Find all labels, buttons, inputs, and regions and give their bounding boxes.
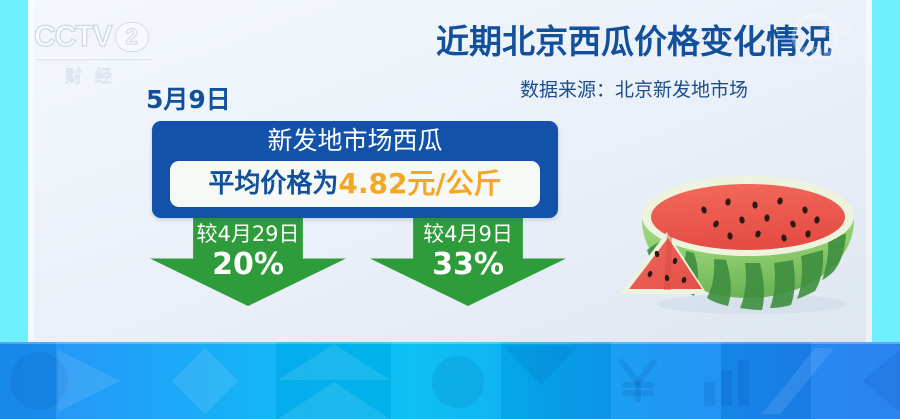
band-bar-chart-icon (700, 358, 756, 406)
comparison-1-percent-value: 20% (150, 248, 346, 282)
watermelon-illustration (612, 158, 874, 318)
infographic-canvas: CCTV 2 财经 近期北京西瓜价格变化情况 数据来源：北京新发地市场 央视网 … (0, 0, 900, 419)
channel-number-badge: 2 (115, 22, 149, 52)
data-source-label: 数据来源：北京新发地市场 (388, 78, 880, 102)
price-panel: 新发地市场西瓜 平均价格为 4.82元/公斤 (152, 121, 558, 218)
comparison-2-percent-value: 33% (370, 248, 566, 282)
as-of-date-label: 5月9日 (146, 85, 231, 115)
average-price-box: 平均价格为 4.82元/公斤 (170, 161, 540, 207)
average-price-value: 4.82元/公斤 (338, 169, 501, 199)
cctv-channel-subtitle: 财经 (34, 62, 156, 87)
comparison-1-baseline-label: 较4月29日 (150, 220, 346, 248)
band-yen-currency-icon (612, 354, 664, 406)
cctv-logo-underline (34, 57, 152, 59)
comparison-arrow-1: 较4月29日 20% (150, 218, 346, 306)
comparison-arrow-2: 较4月9日 33% (370, 218, 566, 306)
price-panel-heading: 新发地市场西瓜 (152, 125, 558, 157)
bottom-decorative-band (0, 342, 900, 419)
band-circle-motif-mid (432, 356, 484, 408)
comparison-2-baseline-label: 较4月9日 (370, 220, 566, 248)
cctv-logo-row: CCTV 2 (34, 18, 156, 56)
average-price-label: 平均价格为 (208, 169, 338, 199)
page-title: 近期北京西瓜价格变化情况 (388, 22, 880, 62)
cctv-wordmark: CCTV (34, 20, 112, 54)
cctv2-logo-icon: CCTV 2 财经 (34, 18, 156, 82)
left-edge-accent-stripe (0, 0, 28, 342)
